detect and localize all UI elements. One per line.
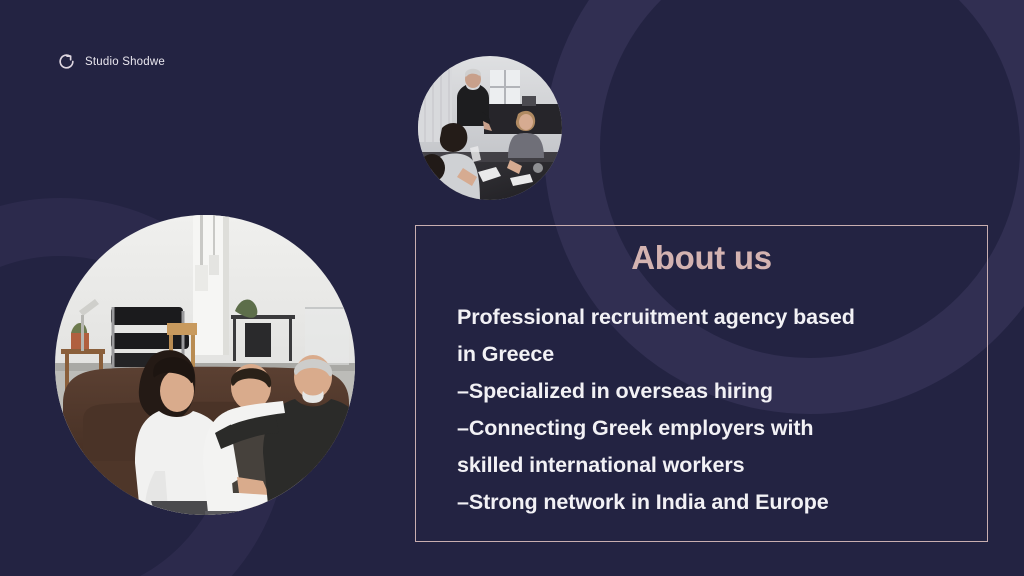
photo-sofa (55, 215, 355, 515)
about-us-body: Professional recruitment agency based in… (416, 277, 987, 521)
photo-meeting (418, 56, 562, 200)
slide-canvas: Studio Shodwe (0, 0, 1024, 576)
about-line-2: in Greece (457, 336, 979, 373)
about-us-title: About us (416, 226, 987, 277)
about-us-card: About us Professional recruitment agency… (415, 225, 988, 542)
brand-logo: Studio Shodwe (57, 52, 165, 71)
brand-wordmark: Studio Shodwe (85, 56, 165, 68)
about-line-1: Professional recruitment agency based (457, 299, 979, 336)
about-line-4: –Connecting Greek employers with (457, 410, 979, 447)
studio-shodwe-loop-icon (57, 52, 76, 71)
about-line-6: –Strong network in India and Europe (457, 484, 979, 521)
about-line-3: –Specialized in overseas hiring (457, 373, 979, 410)
about-line-5: skilled international workers (457, 447, 979, 484)
